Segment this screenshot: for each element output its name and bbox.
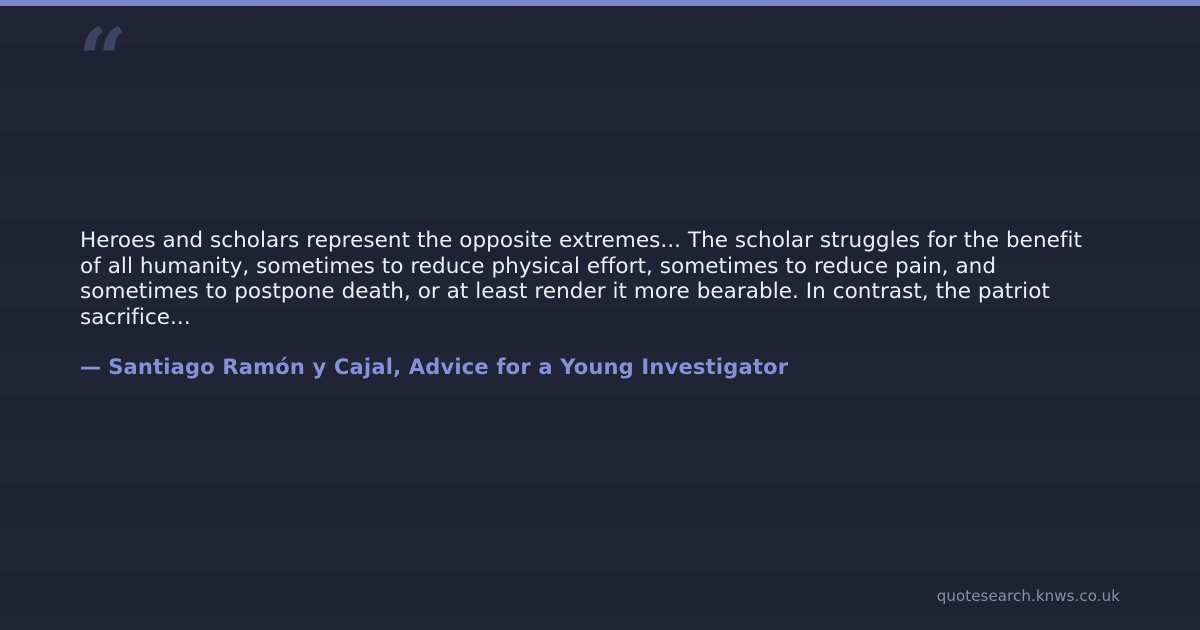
quote-card: “ Heroes and scholars represent the oppo…	[0, 0, 1200, 630]
attribution-label: Santiago Ramón y Cajal, Advice for a You…	[108, 355, 788, 379]
attribution-dash: —	[80, 355, 101, 379]
quote-text: Heroes and scholars represent the opposi…	[80, 228, 1090, 330]
quote-attribution: —Santiago Ramón y Cajal, Advice for a Yo…	[80, 355, 788, 379]
site-url: quotesearch.knws.co.uk	[937, 587, 1120, 605]
open-quote-icon: “	[78, 18, 125, 104]
top-accent-bar	[0, 0, 1200, 6]
